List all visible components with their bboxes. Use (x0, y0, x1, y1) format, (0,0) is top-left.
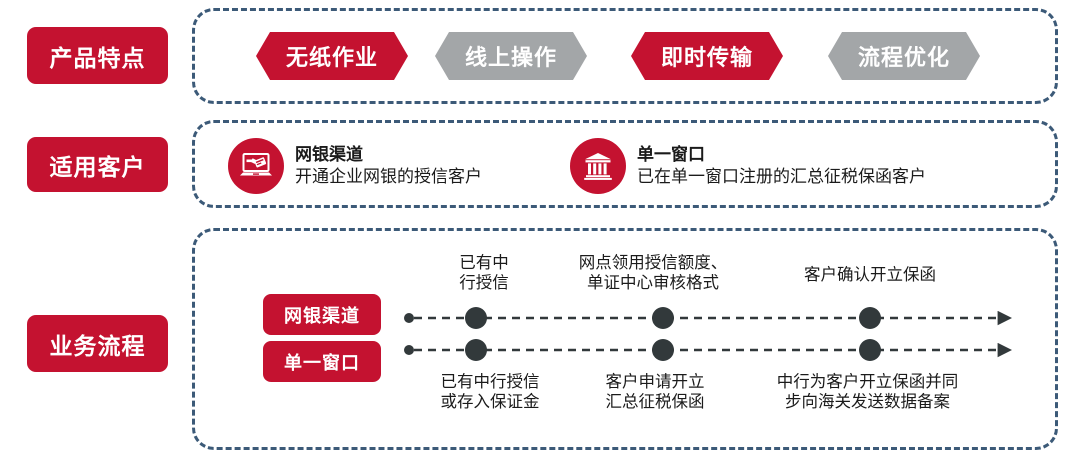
feature-badge-label: 无纸作业 (286, 40, 378, 72)
feature-badge-label: 线上操作 (465, 40, 557, 72)
process-timeline (400, 300, 1020, 366)
bank-temple-icon (570, 138, 626, 194)
timeline-track-top (404, 307, 1000, 329)
process-step-lower-2: 客户申请开立 汇总征税保函 (580, 372, 730, 412)
feature-badge-realtime[interactable]: 即时传输 (631, 32, 783, 80)
customer-text-block: 单一窗口 已在单一窗口注册的汇总征税保函客户 (637, 145, 926, 186)
infographic-root: 产品特点 无纸作业 线上操作 即时传输 流程优化 适用客户 (0, 0, 1080, 459)
feature-badge-online[interactable]: 线上操作 (435, 32, 587, 80)
timeline-track-bottom (404, 339, 1000, 361)
customer-item-ebanking: 网银渠道 开通企业网银的授信客户 (228, 138, 482, 194)
timeline-milestone-dot (652, 307, 674, 329)
process-step-upper-3: 客户确认开立保函 (770, 265, 970, 285)
timeline-milestone-dot (859, 307, 881, 329)
customer-title: 网银渠道 (295, 145, 482, 165)
section-label-features: 产品特点 (27, 27, 168, 84)
process-track-label-ebanking[interactable]: 网银渠道 (263, 294, 381, 335)
laptop-card-icon (228, 138, 284, 194)
feature-badge-paperless[interactable]: 无纸作业 (256, 32, 408, 80)
process-step-upper-1: 已有中 行授信 (440, 253, 528, 293)
timeline-milestone-dot (652, 339, 674, 361)
customer-item-single-window: 单一窗口 已在单一窗口注册的汇总征税保函客户 (570, 138, 926, 194)
customer-text-block: 网银渠道 开通企业网银的授信客户 (295, 145, 482, 186)
feature-badge-optimized[interactable]: 流程优化 (828, 32, 980, 80)
timeline-start-dot (404, 345, 414, 355)
customer-description: 已在单一窗口注册的汇总征税保函客户 (637, 167, 926, 187)
process-step-lower-1: 已有中行授信 或存入保证金 (415, 372, 565, 412)
feature-badge-label: 流程优化 (858, 40, 950, 72)
timeline-milestone-dot (465, 307, 487, 329)
feature-badge-label: 即时传输 (661, 40, 753, 72)
timeline-milestone-dot (465, 339, 487, 361)
process-step-lower-3: 中行为客户开立保函并同 步向海关发送数据备案 (735, 372, 1000, 412)
timeline-milestone-dot (859, 339, 881, 361)
process-step-upper-2: 网点领用授信额度、 单证中心审核格式 (545, 253, 761, 293)
section-label-customers: 适用客户 (27, 137, 168, 192)
customer-title: 单一窗口 (637, 145, 926, 165)
section-label-process: 业务流程 (27, 315, 168, 372)
customer-description: 开通企业网银的授信客户 (295, 167, 482, 187)
process-track-label-single-window[interactable]: 单一窗口 (263, 341, 381, 382)
timeline-start-dot (404, 313, 414, 323)
